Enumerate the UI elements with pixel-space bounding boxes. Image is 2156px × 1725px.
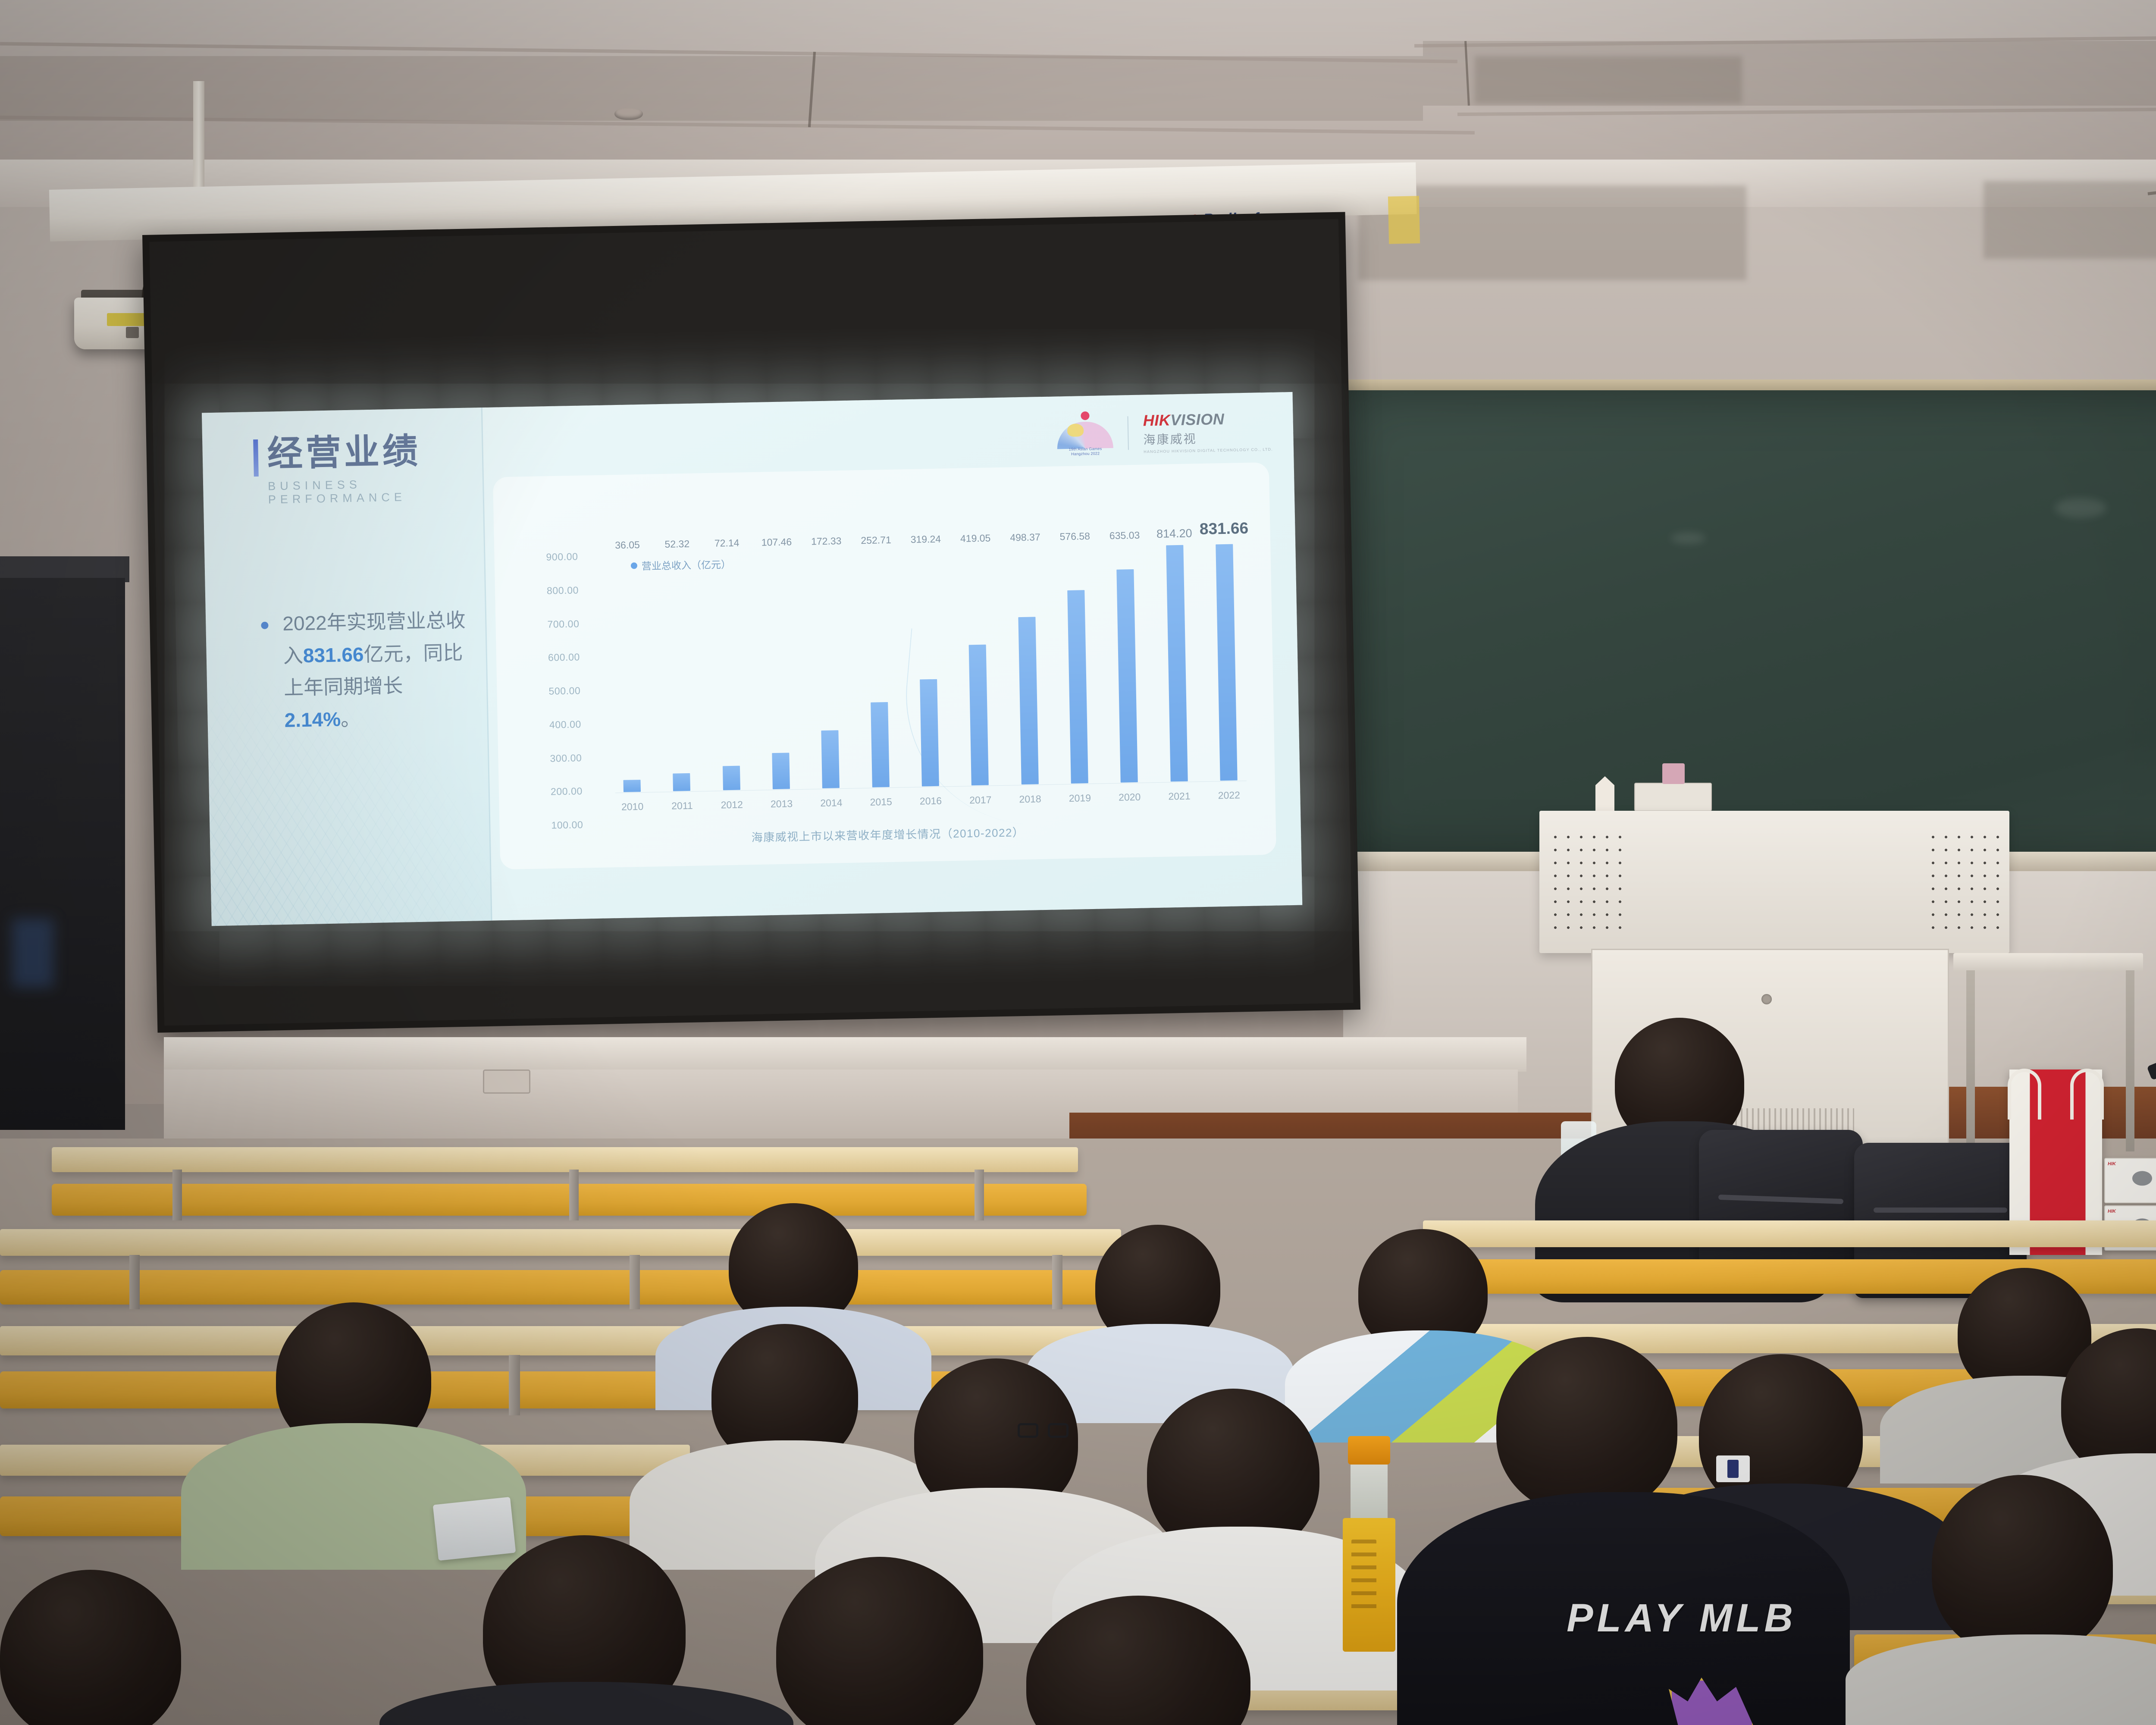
product-box-image [2132,1171,2152,1186]
x-axis-tick: 2012 [718,799,746,811]
bar-value-label: 498.37 [1010,531,1040,543]
bar [673,773,691,791]
bar [969,645,989,786]
bench-row [0,1270,1138,1305]
y-axis-tick: 100.00 [551,819,583,831]
x-axis-tick: 2013 [768,798,795,810]
bar [623,780,641,792]
presentation-slide: 经营业绩 BUSINESS PERFORMANCE 2022年实现营业总收入83… [202,392,1302,926]
bar-value-label: 831.66 [1200,519,1249,538]
bench-leg [630,1255,640,1309]
chart-caption: 海康威视上市以来营收年度增长情况（2010-2022） [500,819,1276,850]
bar [821,730,840,788]
x-axis-tick: 2010 [619,801,646,813]
bench-leg [1052,1255,1062,1309]
ceiling-stain [1475,56,1742,103]
y-axis-tick: 600.00 [548,652,580,664]
bar-value-label: 172.33 [811,535,842,547]
x-axis-tick: 2020 [1116,791,1143,803]
asian-games-logo-icon: 19th Asian Games Hangzhou 2022 [1056,410,1113,458]
bar-column: 72.14 [714,554,745,790]
logo-separator [1128,416,1129,450]
x-axis-tick: 2018 [1017,793,1044,805]
hikvision-logo: HIKVISION 海康威视 HANGZHOU HIKVISION DIGITA… [1143,409,1273,454]
slide-logos: 19th Asian Games Hangzhou 2022 HIKVISION… [1056,407,1273,458]
bench-leg [129,1255,140,1309]
x-axis-tick: 2019 [1066,792,1094,804]
smoke-detector-icon [614,108,643,120]
bar-column: 576.58 [1062,547,1093,784]
x-axis-tick: 2017 [967,794,994,806]
x-axis-tick: 2011 [669,800,696,812]
x-axis-tick: 2021 [1166,790,1193,802]
bar-value-label: 107.46 [761,536,792,548]
wall-stain [1984,181,2156,259]
bar-column: 419.05 [962,549,994,785]
bar [1018,617,1038,784]
bullet-revenue-value: 831.66 [303,643,364,667]
bottle-cap [1348,1436,1390,1465]
hikvision-tagline: HANGZHOU HIKVISION DIGITAL TECHNOLOGY CO… [1144,447,1273,454]
gift-bag-handle [2070,1069,2104,1120]
speaker-grille-icon [1927,831,2000,930]
y-axis-tick: 500.00 [548,685,580,697]
asian-games-fan-icon [1057,421,1113,449]
bar-column: 319.24 [912,550,944,787]
lock-icon[interactable] [1761,994,1772,1004]
hikvision-chinese-name: 海康威视 [1143,428,1273,448]
bar [920,679,939,787]
x-axis-tick: 2016 [917,795,944,807]
bullet-suffix: 。 [341,707,361,730]
bar-column: 252.71 [863,551,894,787]
y-axis-tick: 800.00 [547,584,579,596]
hikvision-wordmark: HIKVISION [1143,409,1272,430]
podium-top [1539,811,2009,953]
chart-card: 营业总收入（亿元） 900.00800.00700.00600.00500.00… [493,462,1276,869]
slide-title: 经营业绩 [267,434,421,472]
ceiling-panel [0,56,1423,121]
chart-plot-area: 营业总收入（亿元） 900.00800.00700.00600.00500.00… [546,536,1247,816]
bar-value-label: 814.20 [1156,527,1192,541]
supply-box [1634,783,1712,811]
bar-column: 831.66 [1211,544,1242,781]
bar-column: 36.05 [614,555,646,792]
asian-games-caption: 19th Asian Games Hangzhou 2022 [1057,446,1113,457]
slide-left-panel: 经营业绩 BUSINESS PERFORMANCE 2022年实现营业总收入83… [202,408,492,926]
bottle-label-text [1351,1540,1376,1617]
x-axis-tick: 2015 [868,796,895,808]
x-axis-tick: 2022 [1216,789,1243,801]
av-indicator-glow [12,919,53,988]
desk-row [0,1326,1186,1355]
product-box: HIK [2104,1158,2156,1203]
tablet-device[interactable] [433,1497,516,1561]
cup [1662,763,1685,784]
drink-bottle [1341,1436,1397,1652]
chart-bars: 36.0552.3272.14107.46172.33252.71319.244… [614,544,1242,792]
bar-value-label: 635.03 [1109,530,1140,542]
bar-value-label: 252.71 [861,534,891,546]
av-rack [0,578,125,1130]
bar-column: 498.37 [1012,548,1044,784]
bar-column: 172.33 [813,552,845,788]
desk-row [0,1229,1121,1256]
bar-value-label: 576.58 [1059,530,1090,543]
bench-leg [172,1170,182,1220]
bullet-point-icon [261,622,268,629]
y-axis-tick: 200.00 [551,786,583,798]
y-axis-tick: 400.00 [549,718,581,731]
y-axis-tick: 700.00 [547,618,579,630]
y-axis-tick: 300.00 [550,752,582,764]
gift-bag-handle [2008,1069,2041,1120]
bar [1067,590,1088,784]
bar [1216,544,1238,781]
wall-socket [483,1069,530,1094]
eyeglasses [1018,1423,1069,1438]
asian-games-line2: Hangzhou 2022 [1057,451,1113,457]
bench-leg [975,1170,984,1220]
y-axis-tick: 900.00 [546,551,578,563]
bar [723,766,740,790]
stage-step [164,1037,1526,1072]
desk-row [52,1147,1078,1172]
bar-value-label: 36.05 [615,539,640,551]
bar-value-label: 319.24 [910,533,941,546]
slide-bullet-text: 2022年实现营业总收入831.66亿元，同比上年同期增长2.14%。 [282,604,471,736]
bottle-neck [1351,1462,1388,1522]
hikvision-hik: HIK [1143,411,1170,429]
mlb-patch-icon [1716,1455,1750,1482]
x-axis-tick: 2014 [818,797,845,809]
lecture-hall-scene: Redleaf 经营业绩 BUSINESS PERFORMANCE 2022年实… [0,0,2156,1725]
bar-value-label: 52.32 [664,538,689,550]
product-box-brand: HIK [2108,1209,2116,1214]
backpack-zipper-icon [1874,1207,2007,1213]
tape-strip [1388,196,1420,244]
bench-leg [509,1355,520,1415]
bar-column: 107.46 [763,552,795,789]
hikvision-vision: VISION [1170,410,1225,429]
bar [1117,569,1138,783]
bar-column: 814.20 [1161,545,1193,782]
audience-head [1932,1475,2113,1656]
side-table [1953,953,2143,972]
audience-head [1496,1337,1677,1514]
side-table-leg [2126,970,2134,1151]
bar-column: 635.03 [1112,546,1143,783]
jacket-text: PLAY MLB [1539,1596,1824,1641]
bar-value-label: 419.05 [960,532,991,544]
product-box-brand: HIK [2108,1161,2116,1167]
bench-leg [569,1170,579,1220]
chalkboard [1343,390,2156,860]
bar [772,753,790,789]
side-table-leg [1966,970,1975,1151]
title-accent-bar [253,439,259,477]
bar-column: 52.32 [664,555,696,791]
speaker-grille-icon [1549,831,1622,930]
asian-games-accent-icon [1067,423,1084,437]
slide-subtitle: BUSINESS PERFORMANCE [268,476,484,507]
projection-screen[interactable]: 经营业绩 BUSINESS PERFORMANCE 2022年实现营业总收入83… [142,212,1360,1032]
bar [871,702,890,787]
bar-value-label: 72.14 [714,537,740,549]
desk-row [1423,1220,2156,1247]
bar [1166,545,1188,782]
bullet-growth-value: 2.14% [284,708,341,731]
chart-x-axis: 2010201120122013201420152016201720182019… [619,789,1242,813]
asian-games-sun-icon [1081,411,1089,420]
